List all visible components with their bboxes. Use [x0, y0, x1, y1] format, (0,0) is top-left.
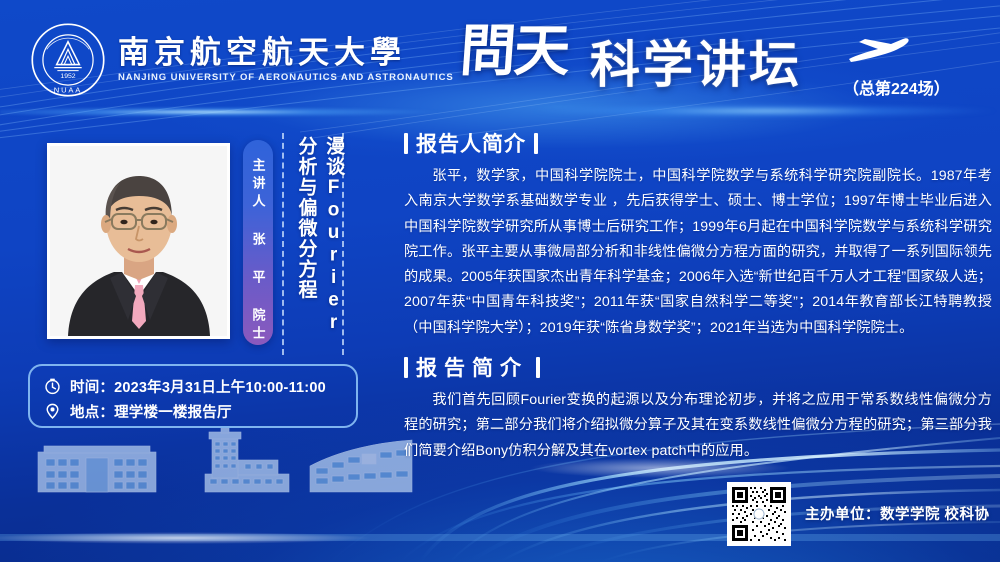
poster-root: 1952 NUAA 南京航空航天大學 NANJING UNIVERSITY OF…: [0, 0, 1000, 562]
section-heading-speaker-text: 报告人简介: [416, 128, 526, 158]
section-speaker-bio: 报告人简介 张平，数学家，中国科学院院士，中国科学院数学与系统科学研究院副院长。…: [404, 128, 992, 341]
heading-bar-left: [404, 357, 408, 378]
event-info-box: 时间：2023年3月31日上午10:00-11:00 地点：理学楼一楼报告厅: [28, 364, 358, 428]
qr-code[interactable]: [727, 482, 791, 546]
campus-buildings-decoration: [0, 426, 420, 504]
seal-abbr: NUAA: [54, 86, 82, 95]
section-body-talk: 我们首先回顾Fourier变换的起源以及分布理论初步，并将之应用于常系数线性偏微…: [404, 388, 992, 464]
university-name-en: NANJING UNIVERSITY OF AERONAUTICS AND AS…: [118, 72, 454, 83]
talk-title: 漫谈Fourier分析与偏微分方程: [292, 136, 347, 352]
event-time-text: 时间：2023年3月31日上午10:00-11:00: [70, 376, 326, 397]
clock-icon: [44, 378, 61, 395]
heading-bar-right: [534, 133, 538, 154]
title-part-wentian: 問天: [458, 24, 570, 80]
event-place-row: 地点：理学楼一楼报告厅: [44, 400, 342, 423]
title-part-forum: 科学讲坛: [590, 40, 802, 90]
speaker-role-label: 主讲人 张 平 院士: [249, 158, 268, 344]
nuaa-seal-icon: 1952 NUAA: [30, 22, 106, 98]
location-pin-icon: [44, 403, 61, 420]
seal-year: 1952: [60, 73, 75, 80]
section-heading-talk-text: 报告简介: [416, 352, 528, 382]
section-talk-abstract: 报告简介 我们首先回顾Fourier变换的起源以及分布理论初步，并将之应用于常系…: [404, 352, 992, 464]
event-place-text: 地点：理学楼一楼报告厅: [70, 401, 232, 422]
university-name-cn: 南京航空航天大學: [118, 37, 454, 70]
heading-bar-right: [536, 357, 540, 378]
section-body-speaker: 张平，数学家，中国科学院院士，中国科学院数学与系统科学研究院副院长。1987年考…: [404, 164, 992, 341]
poster-title-block: 問天 科学讲坛 （总第224场）: [455, 18, 995, 114]
speaker-photo-frame: [47, 143, 230, 339]
organizer-text: 主办单位：数学学院 校科协: [805, 503, 990, 524]
session-number: （总第224场）: [843, 75, 950, 99]
event-time-row: 时间：2023年3月31日上午10:00-11:00: [44, 375, 342, 398]
section-heading-talk: 报告简介: [404, 352, 992, 382]
section-heading-speaker: 报告人简介: [404, 128, 992, 158]
airplane-icon: [845, 33, 911, 67]
speaker-role-bar: 主讲人 张 平 院士: [243, 140, 273, 345]
dashed-line-left: [282, 133, 284, 355]
university-branding: 1952 NUAA 南京航空航天大學 NANJING UNIVERSITY OF…: [30, 22, 454, 98]
heading-bar-left: [404, 133, 408, 154]
speaker-portrait: [50, 146, 227, 336]
